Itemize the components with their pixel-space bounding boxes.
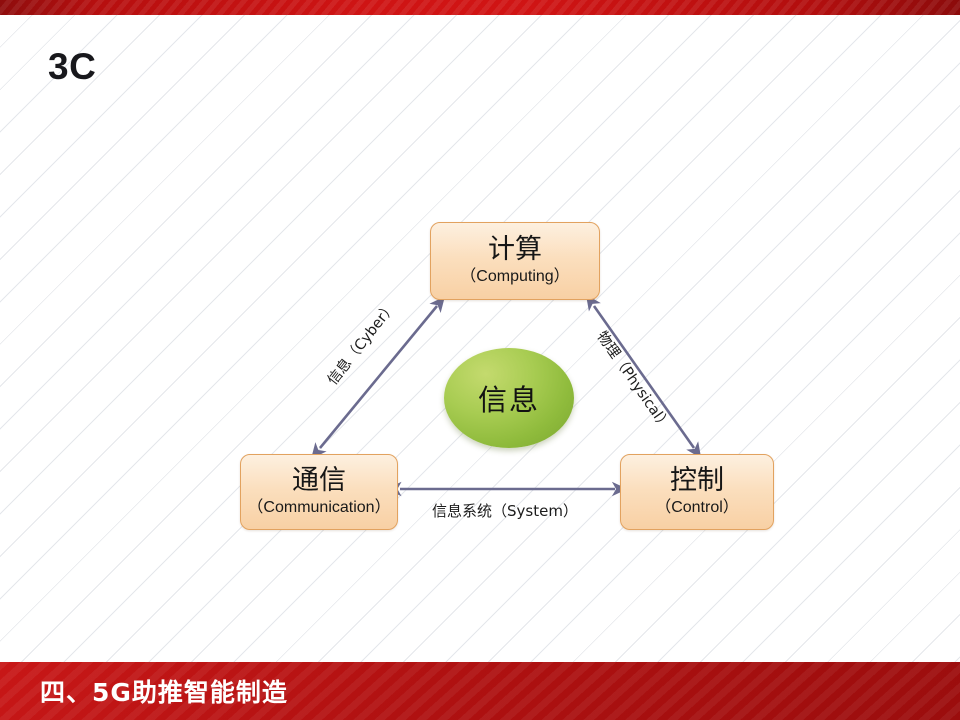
page-title: 3C [48, 48, 96, 85]
top-accent-bar [0, 0, 960, 15]
slide-canvas: 3C 信息 计算 （Computing） 通信 （Communication） [0, 0, 960, 720]
node-control-label-cn: 控制 [670, 467, 724, 495]
footer-bar: 四、5G助推智能制造 [0, 662, 960, 720]
edge-label-cyber: 信息（Cyber） [322, 297, 401, 389]
node-control-label-en: （Control） [655, 500, 739, 517]
edge-label-physical: 物理（Physical） [592, 326, 676, 434]
node-computing-label-cn: 计算 [488, 236, 542, 264]
top-accent-bar-stripes [0, 0, 960, 15]
node-communication-label-cn: 通信 [292, 467, 346, 495]
node-control[interactable]: 控制 （Control） [620, 454, 774, 530]
node-computing-label-en: （Computing） [460, 269, 569, 286]
footer-section-title: 四、5G助推智能制造 [40, 673, 288, 709]
center-node-information: 信息 [444, 348, 574, 448]
node-computing[interactable]: 计算 （Computing） [430, 222, 600, 300]
node-communication-label-en: （Communication） [247, 500, 390, 517]
node-communication[interactable]: 通信 （Communication） [240, 454, 398, 530]
edge-label-system: 信息系统（System） [432, 500, 578, 521]
center-node-label: 信息 [478, 377, 540, 419]
